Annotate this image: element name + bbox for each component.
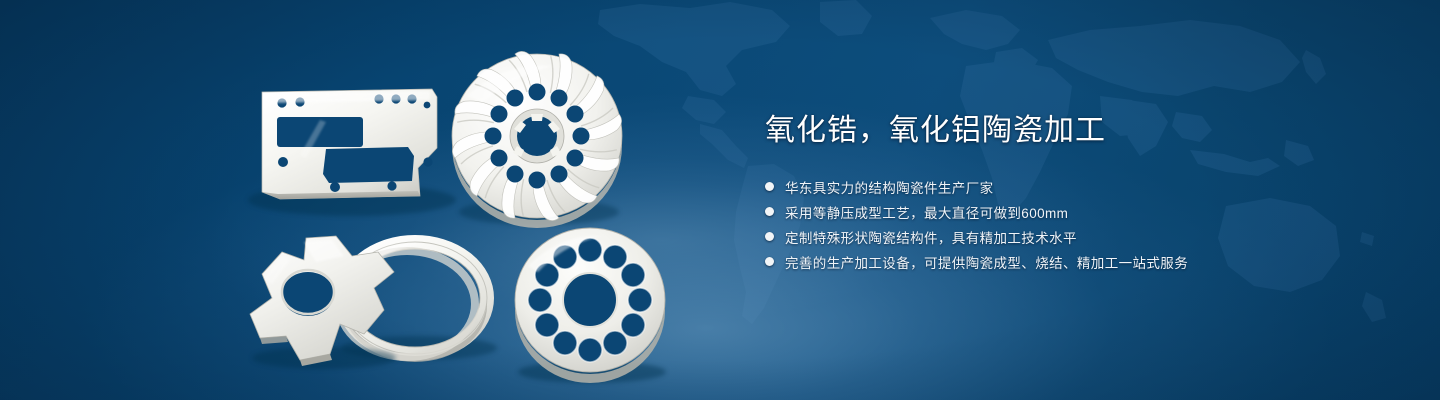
product-ceramic-valve-plate bbox=[515, 228, 666, 383]
list-item: 华东具实力的结构陶瓷件生产厂家 bbox=[765, 174, 1385, 199]
product-image-cluster bbox=[0, 0, 720, 400]
bullet-dot-icon bbox=[765, 207, 774, 216]
bullet-dot-icon bbox=[765, 232, 774, 241]
list-item-label: 采用等静压成型工艺，最大直径可做到600mm bbox=[785, 202, 1068, 222]
list-item-label: 完善的生产加工设备，可提供陶瓷成型、烧结、精加工一站式服务 bbox=[785, 252, 1188, 272]
list-item-label: 华东具实力的结构陶瓷件生产厂家 bbox=[785, 177, 994, 197]
list-item: 完善的生产加工设备，可提供陶瓷成型、烧结、精加工一站式服务 bbox=[765, 249, 1385, 274]
bullet-dot-icon bbox=[765, 257, 774, 266]
page-title: 氧化锆，氧化铝陶瓷加工 bbox=[765, 110, 1385, 152]
product-ceramic-mounting-plate bbox=[248, 89, 456, 216]
hero-banner: 氧化锆，氧化铝陶瓷加工 华东具实力的结构陶瓷件生产厂家 采用等静压成型工艺，最大… bbox=[0, 0, 1440, 400]
feature-list: 华东具实力的结构陶瓷件生产厂家 采用等静压成型工艺，最大直径可做到600mm 定… bbox=[765, 174, 1385, 274]
list-item-label: 定制特殊形状陶瓷结构件，具有精加工技术水平 bbox=[785, 227, 1077, 247]
banner-text-block: 氧化锆，氧化铝陶瓷加工 华东具实力的结构陶瓷件生产厂家 采用等静压成型工艺，最大… bbox=[765, 110, 1385, 274]
list-item: 定制特殊形状陶瓷结构件，具有精加工技术水平 bbox=[765, 224, 1385, 249]
bullet-dot-icon bbox=[765, 182, 774, 191]
list-item: 采用等静压成型工艺，最大直径可做到600mm bbox=[765, 199, 1385, 224]
product-ceramic-impeller-disc bbox=[452, 51, 622, 228]
